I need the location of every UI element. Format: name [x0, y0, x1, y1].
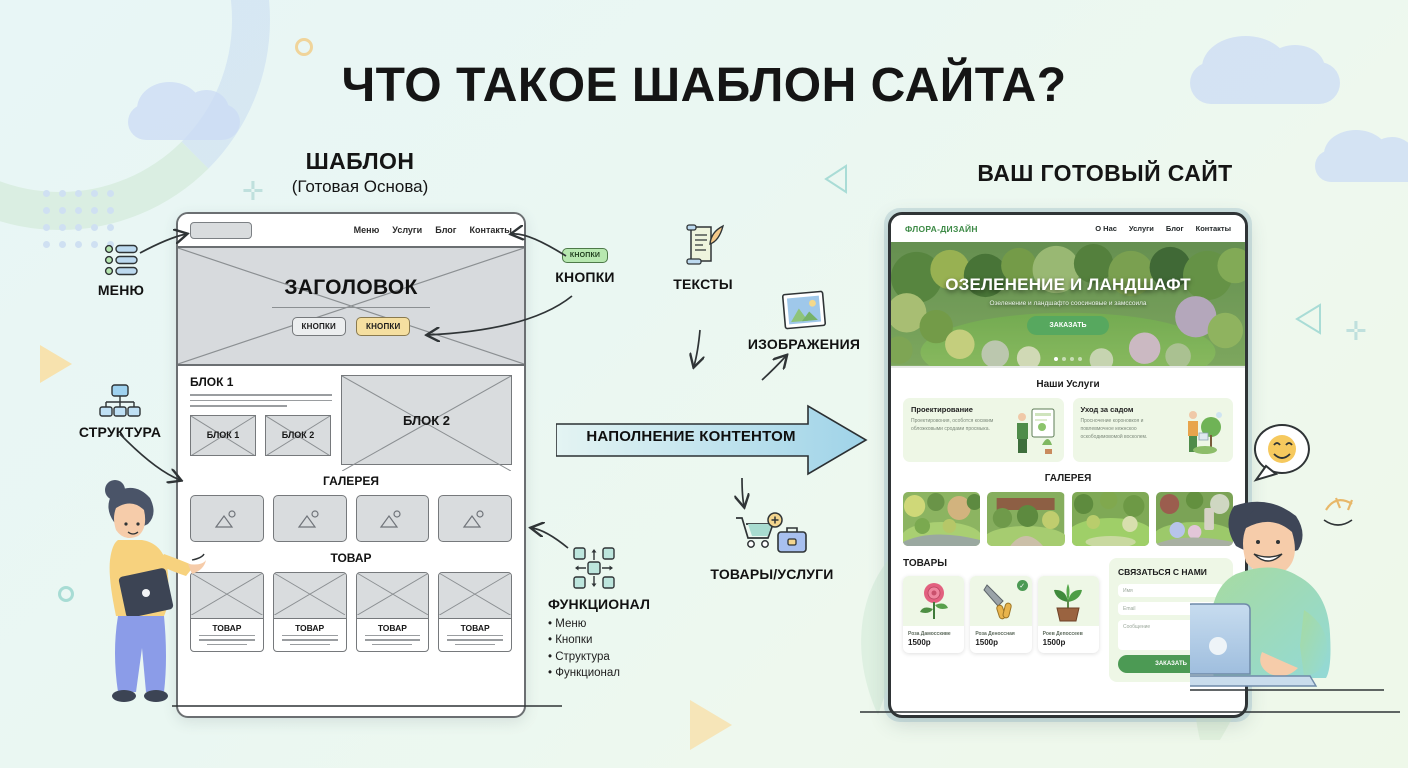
cart-briefcase-icon	[688, 512, 856, 560]
speech-bubble-smiley	[1248, 422, 1318, 488]
service-card-title: Проектирование	[911, 405, 1008, 414]
wireframe-block1-col: БЛОК 1 БЛОК 1	[190, 375, 332, 465]
arrow-goods	[742, 478, 744, 506]
wireframe-block-row: БЛОК 1 БЛОК 1	[190, 375, 512, 465]
wireframe-product-label: ТОВАР	[274, 619, 346, 635]
plus-decor: ✛	[1345, 318, 1367, 344]
arrow-structure	[120, 434, 180, 480]
outline-triangle-decor	[1290, 300, 1328, 338]
template-wireframe: Меню Услуги Блог Контакты ЗАГОЛОВОК КНОП…	[176, 212, 526, 718]
wireframe-thumb-label: БЛОК 2	[282, 430, 315, 440]
right-column-title: ВАШ ГОТОВЫЙ САЙТ	[880, 160, 1330, 187]
site-products-title: ТОВАРЫ	[903, 558, 1099, 569]
product-name: Роев Депоссеев	[1038, 626, 1099, 638]
text-placeholder-lines	[274, 635, 346, 651]
potted-plant-icon	[1049, 580, 1087, 622]
carousel-dots[interactable]	[1054, 357, 1082, 361]
wireframe-navbar: Меню Услуги Блог Контакты	[178, 214, 524, 248]
wireframe-logo-placeholder	[190, 222, 252, 239]
annotation-menu-label: МЕНЮ	[78, 282, 164, 298]
annotation-goods: ТОВАРЫ/УСЛУГИ	[688, 512, 856, 582]
site-products-col: ТОВАРЫ Роза Дамосскиве 1500р	[903, 558, 1099, 682]
annotation-buttons-badge: КНОПКИ	[562, 248, 608, 263]
annotation-images: ИЗОБРАЖЕНИЯ	[724, 290, 884, 352]
wireframe-thumb: БЛОК 1	[190, 415, 256, 456]
text-placeholder-lines	[439, 635, 511, 651]
site-nav-item[interactable]: О Нас	[1095, 224, 1117, 233]
wireframe-thumb: БЛОК 2	[265, 415, 331, 456]
wireframe-nav-item[interactable]: Услуги	[392, 225, 422, 235]
site-gallery-title: ГАЛЕРЕЯ	[891, 473, 1245, 484]
picture-icon	[724, 290, 884, 330]
wireframe-product-label: ТОВАР	[357, 619, 429, 635]
wireframe-button-accent[interactable]: КНОПКИ	[356, 317, 410, 336]
wireframe-body: БЛОК 1 БЛОК 1	[178, 366, 524, 652]
triangle-decor	[40, 345, 72, 383]
product-image	[903, 576, 964, 626]
left-column-heading: ШАБЛОН (Готовая Основа)	[200, 148, 520, 197]
annotation-texts: ТЕКСТЫ	[640, 222, 766, 292]
annotation-structure: СТРУКТУРА	[60, 384, 180, 440]
wireframe-thumb-row: БЛОК 1 БЛОК 2	[190, 415, 332, 456]
annotation-menu: МЕНЮ	[78, 244, 164, 298]
site-gallery-image[interactable]	[1072, 492, 1149, 546]
triangle-decor	[690, 700, 732, 750]
wireframe-product-card: ТОВАР	[356, 572, 430, 652]
site-hero-heading: ОЗЕЛЕНЕНИЕ И ЛАНДШАФТ	[945, 275, 1191, 295]
site-products-row: Роза Дамосскиве 1500р ✓ Роза Деноссная 1…	[903, 576, 1099, 653]
page-title: ЧТО ТАКОЕ ШАБЛОН САЙТА?	[0, 58, 1408, 113]
site-hero: ОЗЕЛЕНЕНИЕ И ЛАНДШАФТ Озеленение и ландш…	[891, 242, 1245, 368]
check-badge-icon: ✓	[1017, 580, 1028, 591]
site-services-title: Наши Услуги	[891, 379, 1245, 390]
wireframe-nav-item[interactable]: Блог	[435, 225, 456, 235]
annotation-buttons-label: КНОПКИ	[538, 269, 632, 285]
wireframe-nav-item[interactable]: Контакты	[470, 225, 512, 235]
annotation-structure-label: СТРУКТУРА	[60, 424, 180, 440]
annotation-goods-label: ТОВАРЫ/УСЛУГИ	[688, 566, 856, 582]
outline-triangle-decor	[820, 162, 854, 196]
site-gallery-image[interactable]	[987, 492, 1064, 546]
site-nav-item[interactable]: Контакты	[1196, 224, 1231, 233]
ring-decor	[295, 38, 313, 56]
service-card-text: Проектировония, особотся косвким обложко…	[911, 418, 1008, 434]
right-column-heading: ВАШ ГОТОВЫЙ САЙТ	[880, 160, 1330, 187]
site-services-row: Проектирование Проектировония, особотся …	[891, 398, 1245, 462]
site-navbar: ФЛОРА-ДИЗАЙН О Нас Услуги Блог Контакты	[891, 215, 1245, 242]
wireframe-hero: ЗАГОЛОВОК КНОПКИ КНОПКИ	[178, 248, 524, 366]
functional-list-item: Кнопки	[548, 632, 698, 648]
sitemap-icon	[60, 384, 180, 418]
shears-icon	[981, 581, 1021, 621]
image-placeholder-cross	[439, 573, 511, 619]
picture-icon	[212, 508, 242, 530]
functional-list-item: Структура	[548, 649, 698, 665]
annotation-functional-label: ФУНКЦИОНАЛ	[548, 596, 698, 612]
wireframe-product-row: ТОВАР ТОВАР	[190, 572, 512, 652]
gardener-illustration-icon	[1181, 405, 1225, 455]
sparkle-decor	[1320, 490, 1366, 530]
button-icon: КНОПКИ	[538, 248, 632, 263]
wireframe-block2: БЛОК 2	[341, 375, 512, 465]
wireframe-gallery-cell	[438, 495, 512, 542]
product-price: 1500р	[970, 638, 1031, 653]
wireframe-thumb-label: БЛОК 1	[207, 430, 240, 440]
product-name: Роза Деноссная	[970, 626, 1031, 638]
site-nav-links: О Нас Услуги Блог Контакты	[1095, 224, 1231, 233]
site-product-card[interactable]: ✓ Роза Деноссная 1500р	[970, 576, 1031, 653]
wireframe-button-plain[interactable]: КНОПКИ	[292, 317, 346, 336]
site-nav-item[interactable]: Блог	[1166, 224, 1184, 233]
wireframe-gallery-cell	[273, 495, 347, 542]
content-fill-arrow: НАПОЛНЕНИЕ КОНТЕНТОМ	[556, 404, 868, 476]
woman-with-tablet-illustration	[60, 480, 210, 712]
site-logo[interactable]: ФЛОРА-ДИЗАЙН	[905, 224, 978, 234]
wireframe-product-card: ТОВАР	[438, 572, 512, 652]
image-placeholder-cross	[357, 573, 429, 619]
service-card-text: Просночение короновкоя и повлевмочное ке…	[1081, 418, 1178, 441]
picture-icon	[377, 508, 407, 530]
site-product-card[interactable]: Роев Депоссеев 1500р	[1038, 576, 1099, 653]
annotation-functional-list: Меню Кнопки Структура Функционал	[548, 616, 698, 681]
left-column-subtitle: (Готовая Основа)	[200, 177, 520, 197]
picture-icon	[460, 508, 490, 530]
divider	[272, 307, 430, 309]
functional-list-item: Меню	[548, 616, 698, 632]
wireframe-nav-item[interactable]: Меню	[354, 225, 380, 235]
site-service-card[interactable]: Проектирование Проектировония, особотся …	[903, 398, 1064, 462]
wireframe-hero-heading: ЗАГОЛОВОК	[284, 276, 417, 300]
picture-icon	[295, 508, 325, 530]
man-with-laptop-illustration	[1190, 500, 1408, 730]
arrow-functional	[532, 528, 568, 548]
wireframe-product-card: ТОВАР	[273, 572, 347, 652]
dot-grid-decor	[38, 185, 118, 253]
site-service-card[interactable]: Уход за садом Просночение короновкоя и п…	[1073, 398, 1234, 462]
annotation-images-label: ИЗОБРАЖЕНИЯ	[724, 336, 884, 352]
wireframe-gallery-cell	[356, 495, 430, 542]
wireframe-product-label: ТОВАР	[439, 619, 511, 635]
content-fill-arrow-label: НАПОЛНЕНИЕ КОНТЕНТОМ	[566, 428, 816, 445]
move-nodes-icon	[572, 546, 698, 590]
wireframe-block1-title: БЛОК 1	[190, 375, 332, 389]
site-hero-content: ОЗЕЛЕНЕНИЕ И ЛАНДШАФТ Озеленение и ландш…	[891, 242, 1245, 368]
wireframe-hero-buttons: КНОПКИ КНОПКИ	[292, 317, 411, 336]
wireframe-gallery-title: ГАЛЕРЕЯ	[190, 474, 512, 488]
product-name: Роза Дамосскиве	[903, 626, 964, 638]
wireframe-nav-links: Меню Услуги Блог Контакты	[354, 225, 512, 235]
text-placeholder-lines	[357, 635, 429, 651]
wireframe-gallery-row	[190, 495, 512, 542]
site-hero-cta-button[interactable]: ЗАКАЗАТЬ	[1027, 316, 1108, 335]
left-column-title: ШАБЛОН	[200, 148, 520, 175]
rose-icon	[915, 581, 953, 621]
site-hero-subheading: Озеленение и ландшафто соосиновые и замс…	[989, 300, 1146, 307]
list-icon	[78, 244, 164, 276]
text-placeholder-lines	[190, 394, 332, 407]
annotation-buttons: КНОПКИ КНОПКИ	[538, 248, 632, 285]
wireframe-product-title: ТОВАР	[190, 551, 512, 565]
product-price: 1500р	[1038, 638, 1099, 653]
wireframe-block2-label: БЛОК 2	[403, 413, 450, 428]
product-image	[1038, 576, 1099, 626]
image-placeholder-cross	[274, 573, 346, 619]
service-card-title: Уход за садом	[1081, 405, 1178, 414]
arrow-images	[762, 356, 786, 380]
functional-list-item: Функционал	[548, 665, 698, 681]
site-gallery-image[interactable]	[903, 492, 980, 546]
designer-illustration-icon	[1012, 405, 1056, 455]
site-product-card[interactable]: Роза Дамосскиве 1500р	[903, 576, 964, 653]
arrow-texts	[694, 330, 700, 366]
site-nav-item[interactable]: Услуги	[1129, 224, 1154, 233]
scroll-quill-icon	[640, 222, 766, 270]
product-price: 1500р	[903, 638, 964, 653]
annotation-functional: ФУНКЦИОНАЛ Меню Кнопки Структура Функцио…	[548, 546, 698, 681]
